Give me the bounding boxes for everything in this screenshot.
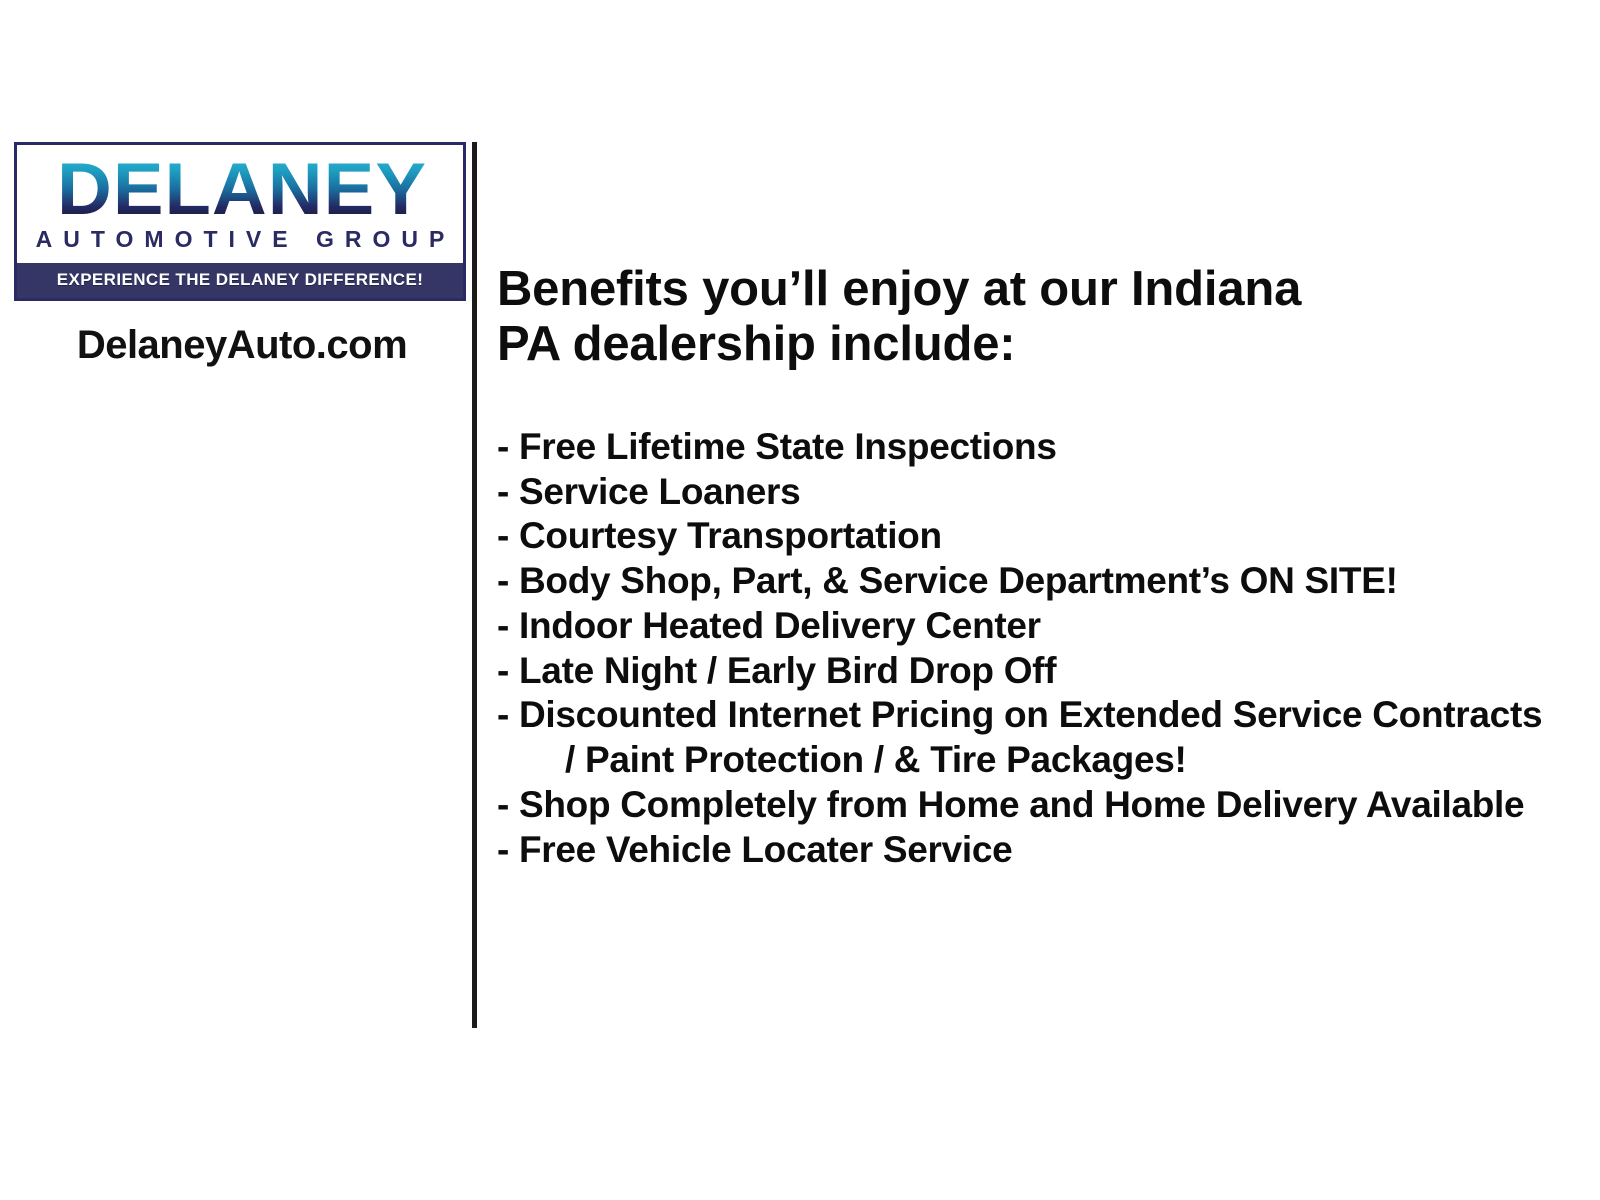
logo-tagline-bar: EXPERIENCE THE DELANEY DIFFERENCE! — [17, 263, 463, 298]
list-item: - Courtesy Transportation — [497, 514, 1557, 559]
content-column: Benefits you’ll enjoy at our Indiana PA … — [497, 262, 1557, 872]
logo-wordmark-delaney: DELANEY — [14, 155, 466, 225]
logo-tagline-text: EXPERIENCE THE DELANEY DIFFERENCE! — [57, 270, 424, 289]
delaney-logo: DELANEY AUTOMOTIVE GROUP EXPERIENCE THE … — [14, 142, 466, 301]
logo-subtitle-automotive-group: AUTOMOTIVE GROUP — [28, 226, 463, 253]
list-item: - Service Loaners — [497, 470, 1557, 515]
logo-upper-section: DELANEY AUTOMOTIVE GROUP — [17, 145, 463, 263]
vertical-divider — [472, 142, 477, 1028]
list-item: - Indoor Heated Delivery Center — [497, 604, 1557, 649]
page-title: Benefits you’ll enjoy at our Indiana PA … — [497, 262, 1327, 372]
brand-column: DELANEY AUTOMOTIVE GROUP EXPERIENCE THE … — [14, 142, 470, 368]
list-item: - Discounted Internet Pricing on Extende… — [497, 693, 1557, 783]
website-url[interactable]: DelaneyAuto.com — [14, 323, 470, 368]
list-item: - Free Lifetime State Inspections — [497, 425, 1557, 470]
list-item: - Late Night / Early Bird Drop Off — [497, 649, 1557, 694]
benefits-list: - Free Lifetime State Inspections - Serv… — [497, 425, 1557, 873]
list-item: - Body Shop, Part, & Service Department’… — [497, 559, 1557, 604]
list-item: - Free Vehicle Locater Service — [497, 828, 1557, 873]
list-item: - Shop Completely from Home and Home Del… — [497, 783, 1557, 828]
slide-canvas: DELANEY AUTOMOTIVE GROUP EXPERIENCE THE … — [0, 0, 1600, 1200]
